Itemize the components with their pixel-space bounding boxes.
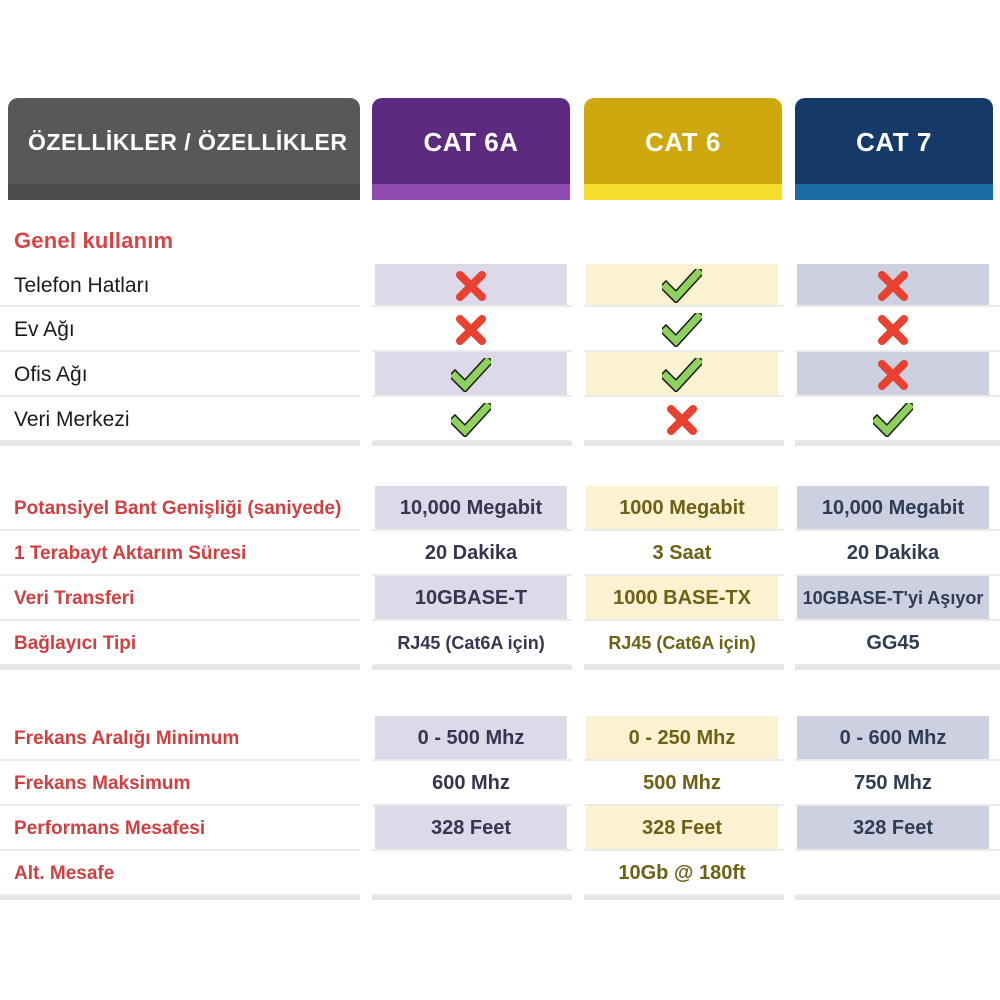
table-cell: 20 Dakika xyxy=(797,531,989,576)
table-cell: 3 Saat xyxy=(586,531,778,576)
row-label: Alt. Mesafe xyxy=(14,851,114,896)
table-cell: 1000 Megabit xyxy=(586,486,778,531)
header-column-strip xyxy=(584,184,782,200)
cross-icon xyxy=(876,358,910,392)
table-row: Ev Ağı xyxy=(0,307,1000,352)
row-label: Ev Ağı xyxy=(14,307,75,352)
check-icon xyxy=(451,403,491,437)
check-icon xyxy=(451,358,491,392)
row-label: Frekans Maksimum xyxy=(14,761,190,806)
table-cell: 0 - 500 Mhz xyxy=(375,716,567,761)
header-column-cat7: CAT 7 xyxy=(795,98,993,200)
table-cell: 10,000 Megabit xyxy=(375,486,567,531)
table-cell: 600 Mhz xyxy=(375,761,567,806)
row-label: 1 Terabayt Aktarım Süresi xyxy=(14,531,246,576)
table-cell xyxy=(375,352,567,397)
table-cell: 750 Mhz xyxy=(797,761,989,806)
cross-icon xyxy=(665,403,699,437)
table-cell: RJ45 (Cat6A için) xyxy=(586,621,778,666)
comparison-table: ÖZELLİKLER / ÖZELLİKLER CAT 6A CAT 6 CAT… xyxy=(0,0,1000,1000)
row-label: Frekans Aralığı Minimum xyxy=(14,716,239,761)
table-cell: 328 Feet xyxy=(375,806,567,851)
table-cell xyxy=(375,851,567,896)
row-label: Bağlayıcı Tipi xyxy=(14,621,136,666)
table-row: Frekans Maksimum600 Mhz500 Mhz750 Mhz xyxy=(0,761,1000,806)
table-cell xyxy=(797,352,989,397)
table-cell xyxy=(586,264,778,307)
section-divider xyxy=(0,442,1000,446)
section-divider xyxy=(0,666,1000,670)
table-cell xyxy=(797,851,989,896)
table-row: Veri Merkezi xyxy=(0,397,1000,442)
table-cell xyxy=(375,307,567,352)
header-column-strip xyxy=(795,184,993,200)
table-cell: 328 Feet xyxy=(797,806,989,851)
section-divider xyxy=(0,896,1000,900)
table-cell: 328 Feet xyxy=(586,806,778,851)
table-row: Potansiyel Bant Genişliği (saniyede)10,0… xyxy=(0,486,1000,531)
cross-icon xyxy=(454,269,488,303)
table-row: Ofis Ağı xyxy=(0,352,1000,397)
header-column-label: CAT 6 xyxy=(584,127,782,172)
table-row: Veri Transferi10GBASE-T1000 BASE-TX10GBA… xyxy=(0,576,1000,621)
table-row: Performans Mesafesi328 Feet328 Feet328 F… xyxy=(0,806,1000,851)
table-cell: 10GBASE-T xyxy=(375,576,567,621)
table-cell xyxy=(797,397,989,442)
table-cell: 20 Dakika xyxy=(375,531,567,576)
cross-icon xyxy=(876,313,910,347)
header-feature-strip xyxy=(8,184,360,200)
table-row: Alt. Mesafe10Gb @ 180ft xyxy=(0,851,1000,896)
section-title: Genel kullanım xyxy=(14,228,173,254)
cross-icon xyxy=(876,269,910,303)
table-cell: 1000 BASE-TX xyxy=(586,576,778,621)
table-header-row: ÖZELLİKLER / ÖZELLİKLER CAT 6A CAT 6 CAT… xyxy=(0,98,1000,200)
table-row: Telefon Hatları xyxy=(0,264,1000,307)
header-column-cat6: CAT 6 xyxy=(584,98,782,200)
table-row: Bağlayıcı TipiRJ45 (Cat6A için)RJ45 (Cat… xyxy=(0,621,1000,666)
header-feature-column: ÖZELLİKLER / ÖZELLİKLER xyxy=(8,98,360,200)
row-label: Veri Merkezi xyxy=(14,397,130,442)
table-cell: 500 Mhz xyxy=(586,761,778,806)
row-label: Performans Mesafesi xyxy=(14,806,205,851)
table-cell: 10Gb @ 180ft xyxy=(586,851,778,896)
header-column-label: CAT 6A xyxy=(372,127,570,172)
table-cell xyxy=(586,307,778,352)
table-cell xyxy=(797,307,989,352)
check-icon xyxy=(662,358,702,392)
row-label: Potansiyel Bant Genişliği (saniyede) xyxy=(14,486,341,531)
table-cell: 0 - 600 Mhz xyxy=(797,716,989,761)
check-icon xyxy=(662,269,702,303)
table-cell: 10GBASE-T'yi Aşıyor xyxy=(797,576,989,621)
header-feature-label: ÖZELLİKLER / ÖZELLİKLER xyxy=(8,129,360,170)
table-cell xyxy=(375,264,567,307)
check-icon xyxy=(662,313,702,347)
row-label: Ofis Ağı xyxy=(14,352,88,397)
table-cell: RJ45 (Cat6A için) xyxy=(375,621,567,666)
table-cell: 10,000 Megabit xyxy=(797,486,989,531)
check-icon xyxy=(873,403,913,437)
table-row: Frekans Aralığı Minimum0 - 500 Mhz0 - 25… xyxy=(0,716,1000,761)
table-cell xyxy=(375,397,567,442)
cross-icon xyxy=(454,313,488,347)
table-cell xyxy=(797,264,989,307)
table-cell: 0 - 250 Mhz xyxy=(586,716,778,761)
table-cell: GG45 xyxy=(797,621,989,666)
header-column-cat6a: CAT 6A xyxy=(372,98,570,200)
row-label: Veri Transferi xyxy=(14,576,134,621)
row-label: Telefon Hatları xyxy=(14,264,149,307)
table-cell xyxy=(586,352,778,397)
table-cell xyxy=(586,397,778,442)
header-column-strip xyxy=(372,184,570,200)
table-row: 1 Terabayt Aktarım Süresi20 Dakika3 Saat… xyxy=(0,531,1000,576)
header-column-label: CAT 7 xyxy=(795,127,993,172)
